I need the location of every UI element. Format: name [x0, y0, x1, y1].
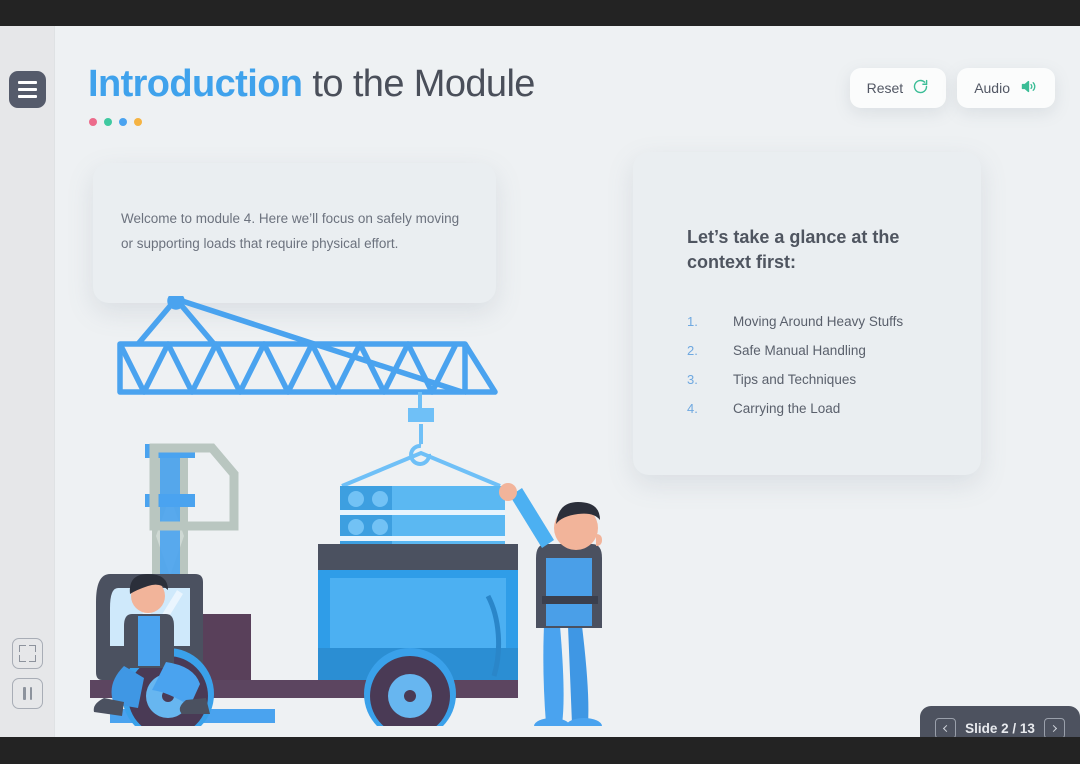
context-list: 1. Moving Around Heavy Stuffs 2. Safe Ma…: [687, 314, 955, 430]
list-item-number: 3.: [687, 372, 733, 387]
title-dot-4: [134, 118, 142, 126]
context-heading: Let’s take a glance at the context first…: [687, 225, 941, 275]
pause-icon[interactable]: [12, 678, 43, 709]
audio-button[interactable]: Audio: [957, 68, 1055, 108]
fullscreen-icon[interactable]: [12, 638, 43, 669]
menu-bar-1: [18, 81, 37, 84]
reset-label: Reset: [867, 80, 904, 96]
intro-card: Welcome to module 4. Here we’ll focus on…: [93, 163, 496, 303]
list-item: 1. Moving Around Heavy Stuffs: [687, 314, 955, 329]
list-item-label: Safe Manual Handling: [733, 343, 866, 358]
menu-bar-2: [18, 88, 37, 91]
list-item-label: Moving Around Heavy Stuffs: [733, 314, 903, 329]
slide-content: Introduction to the Module Reset Audio: [55, 26, 1080, 737]
title-dot-3: [119, 118, 127, 126]
audio-label: Audio: [974, 80, 1010, 96]
title-dot-2: [104, 118, 112, 126]
window-bottom-bar: [0, 737, 1080, 764]
reset-button[interactable]: Reset: [850, 68, 947, 108]
menu-icon[interactable]: [9, 71, 46, 108]
speaker-icon: [1019, 78, 1038, 98]
slide-actions: Reset Audio: [850, 68, 1055, 108]
intro-text: Welcome to module 4. Here we’ll focus on…: [121, 207, 472, 257]
slide-counter: Slide 2 / 13: [965, 721, 1035, 736]
page-title-highlight: Introduction: [88, 63, 302, 105]
window-top-bar: [0, 0, 1080, 26]
menu-bar-3: [18, 95, 37, 98]
left-toolbar-rail: [0, 26, 55, 737]
prev-slide-icon[interactable]: [935, 718, 956, 739]
reset-icon: [912, 78, 929, 98]
list-item-number: 2.: [687, 343, 733, 358]
slide-stage: Introduction to the Module Reset Audio: [0, 26, 1080, 737]
page-title: Introduction to the Module: [88, 63, 535, 106]
page-title-rest: to the Module: [302, 63, 534, 105]
list-item-label: Carrying the Load: [733, 401, 840, 416]
construction-illustration: [90, 296, 650, 726]
list-item-label: Tips and Techniques: [733, 372, 856, 387]
list-item-number: 1.: [687, 314, 733, 329]
list-item-number: 4.: [687, 401, 733, 416]
list-item: 4. Carrying the Load: [687, 401, 955, 416]
context-card: Let’s take a glance at the context first…: [633, 152, 981, 475]
next-slide-icon[interactable]: [1044, 718, 1065, 739]
title-dot-1: [89, 118, 97, 126]
list-item: 2. Safe Manual Handling: [687, 343, 955, 358]
list-item: 3. Tips and Techniques: [687, 372, 955, 387]
title-dots: [89, 118, 142, 126]
